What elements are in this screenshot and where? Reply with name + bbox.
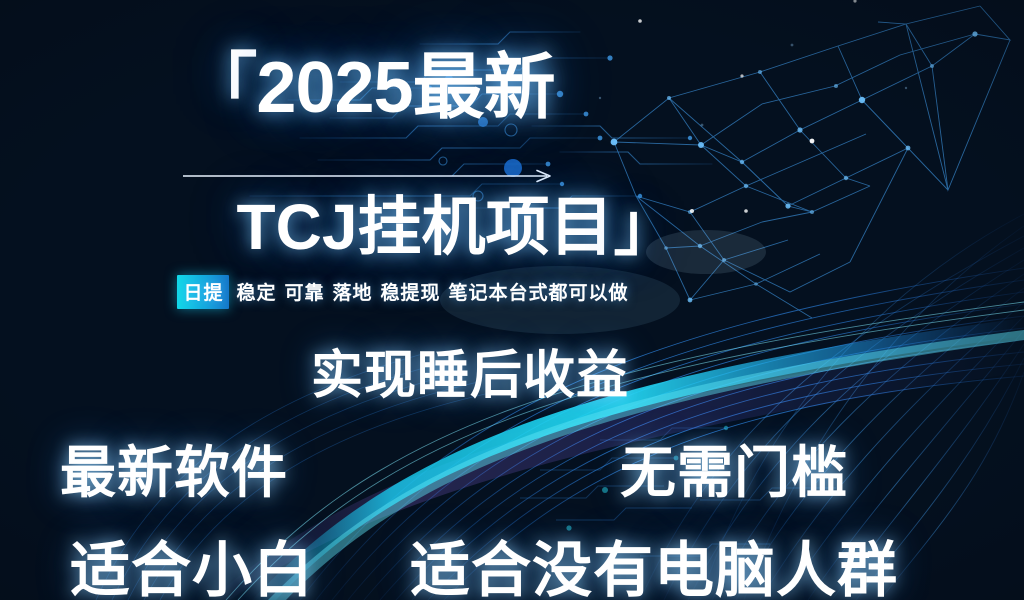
promo-banner: 「2025最新 TCJ挂机项目」 日提稳定可靠落地稳提现笔记本台式都可以做 实现… [0,0,1024,600]
tagline-word-4: 笔记本台式都可以做 [449,283,629,304]
feature-no-threshold: 无需门槛 [620,428,848,509]
banner-content: 「2025最新 TCJ挂机项目」 日提稳定可靠落地稳提现笔记本台式都可以做 实现… [0,0,1024,600]
tagline-word-1: 可靠 [284,283,324,304]
feature-row-2: 适合小白 适合没有电脑人群 [0,522,1024,598]
headline-line-1: 「2025最新 [0,52,740,124]
open-corner-bracket: 「 [185,48,256,128]
headline-line-2: TCJ挂机项目」 [0,193,1024,262]
close-corner-bracket: 」 [613,191,677,263]
feature-latest-software: 最新软件 [60,428,288,509]
feature-beginner-friendly: 适合小白 [70,522,314,600]
feature-no-computer: 适合没有电脑人群 [410,522,898,600]
tagline-word-0: 稳定 [236,283,276,304]
headline-line-1-text: 2025最新 [256,48,554,128]
feature-row-1: 最新软件 无需门槛 [0,428,1024,500]
tagline-word-3: 稳提现 [381,283,441,304]
headline-line-3: 实现睡后收益 [0,333,940,408]
tagline-badge: 日提 [177,275,229,309]
headline-line-2-text: TCJ挂机项目 [237,191,614,263]
tagline-row: 日提稳定可靠落地稳提现笔记本台式都可以做 [0,275,810,309]
right-arrow-divider [183,168,557,184]
tagline-word-2: 落地 [333,283,373,304]
